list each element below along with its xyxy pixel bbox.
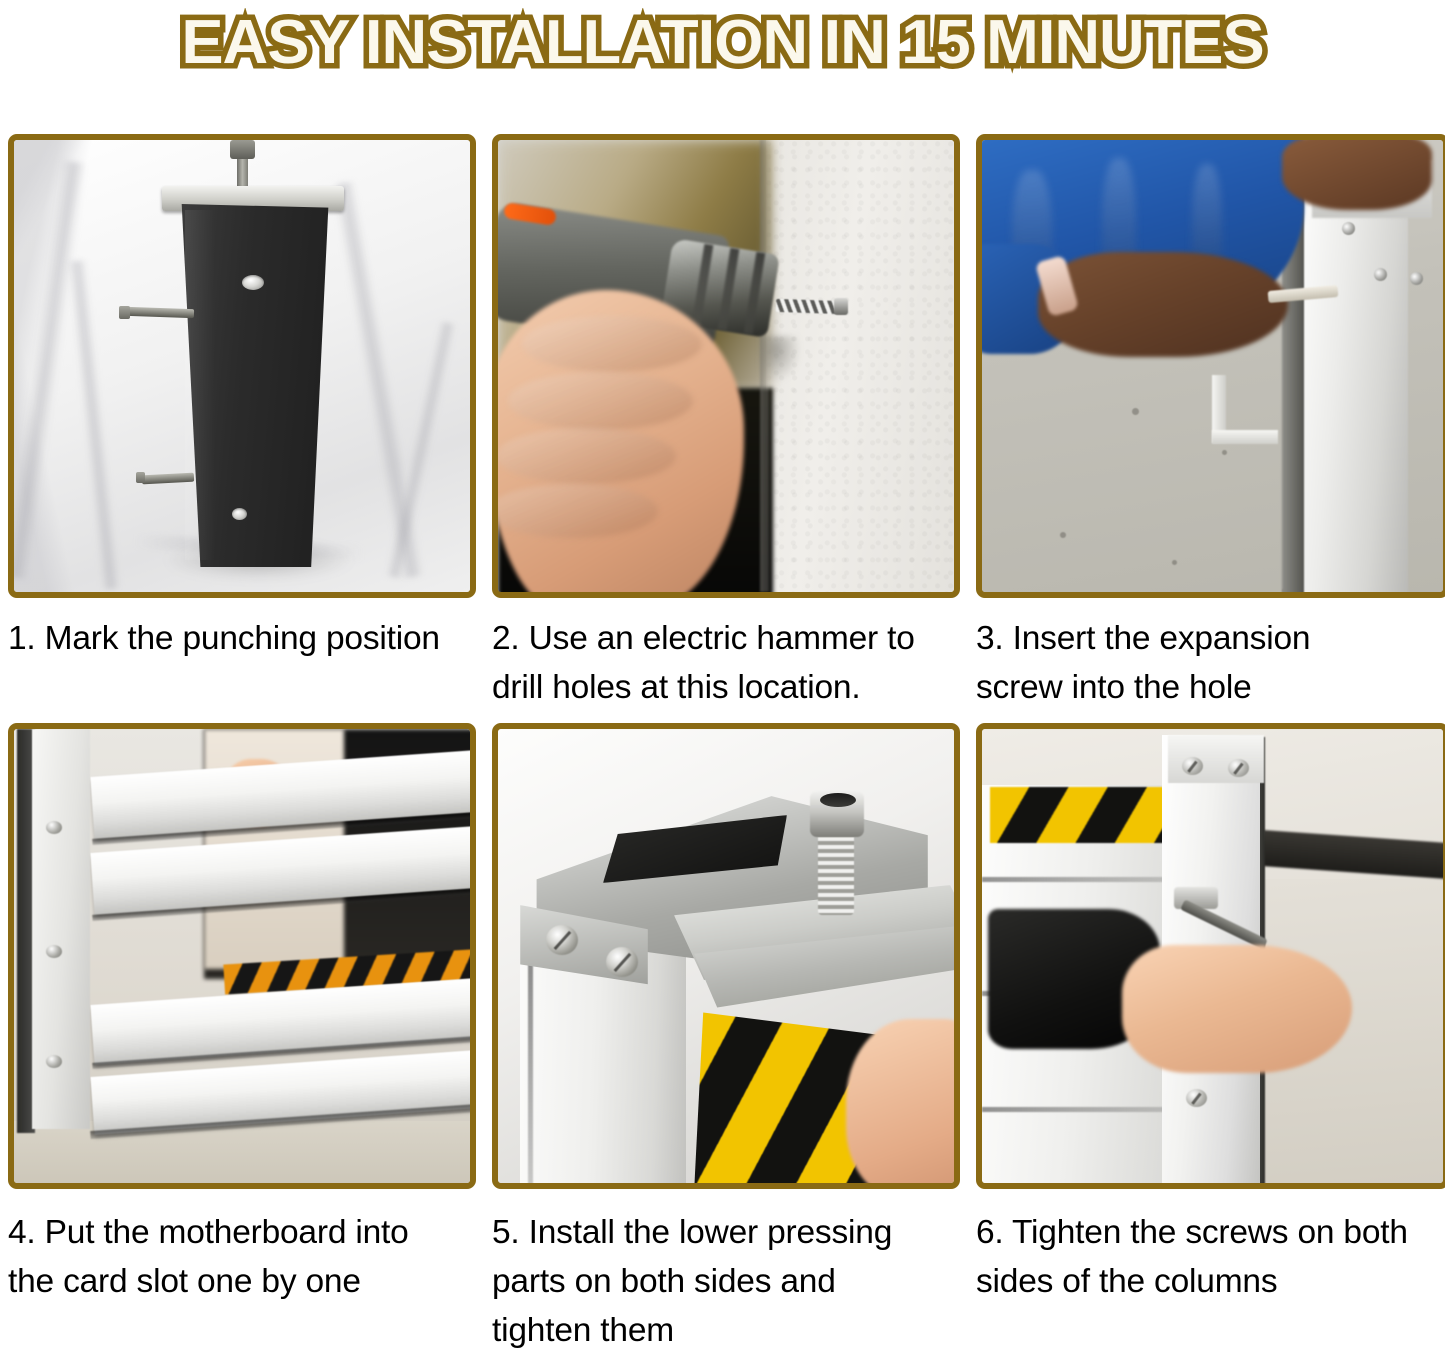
white-column bbox=[1304, 154, 1408, 592]
title-banner: EASY INSTALLATION IN 15 MINUTES bbox=[0, 0, 1445, 86]
step-photo-4 bbox=[8, 723, 476, 1189]
panel-groove bbox=[982, 1107, 1178, 1112]
step-photo-2 bbox=[492, 134, 960, 598]
drill-bit bbox=[776, 299, 842, 314]
thumb-bolt-thread bbox=[818, 829, 854, 915]
step-caption-5: 5. Install the lower pressing parts on b… bbox=[492, 1208, 960, 1352]
column-screw-bottom bbox=[1186, 1089, 1207, 1107]
operator-hand bbox=[1122, 945, 1352, 1073]
scene-lower-pressing-parts bbox=[498, 729, 954, 1183]
surface-speck bbox=[1132, 408, 1139, 415]
finger bbox=[522, 316, 702, 372]
step-card-4: 4. Put the motherboard into the card slo… bbox=[8, 723, 476, 1352]
step-caption-3: 3. Insert the expansion screw into the h… bbox=[976, 614, 1445, 712]
page-title: EASY INSTALLATION IN 15 MINUTES bbox=[181, 12, 1263, 74]
surface-speck bbox=[1060, 532, 1066, 538]
column-edge-line bbox=[528, 951, 533, 1183]
threaded-rod-upper-cap bbox=[119, 306, 130, 319]
step-card-1: 1. Mark the punching position bbox=[8, 134, 476, 712]
step-caption-1: 1. Mark the punching position bbox=[8, 614, 476, 663]
scene-insert-expansion-screw bbox=[982, 140, 1443, 592]
scene-mark-punching-position bbox=[14, 140, 470, 592]
top-bolt-head bbox=[230, 140, 255, 159]
installation-guide-page: EASY INSTALLATION IN 15 MINUTES bbox=[0, 0, 1445, 1352]
column-screw bbox=[46, 945, 62, 958]
worker-second-hand bbox=[1282, 140, 1432, 210]
finger bbox=[498, 428, 676, 484]
bracket-screw bbox=[606, 947, 638, 977]
step-caption-4: 4. Put the motherboard into the card slo… bbox=[8, 1208, 476, 1306]
step-card-2: 2. Use an electric hammer to drill holes… bbox=[492, 134, 960, 712]
threaded-rod-lower-cap bbox=[136, 472, 145, 483]
drill-bit-tip bbox=[834, 298, 848, 315]
step-caption-2: 2. Use an electric hammer to drill holes… bbox=[492, 614, 960, 712]
column-screw-top-right bbox=[1228, 759, 1249, 777]
step-photo-1 bbox=[8, 134, 476, 598]
scene-insert-boards bbox=[14, 729, 470, 1183]
step-caption-6: 6. Tighten the screws on both sides of t… bbox=[976, 1208, 1445, 1306]
step-photo-3 bbox=[976, 134, 1445, 598]
mounting-hole-lower bbox=[232, 508, 247, 520]
steps-grid: 1. Mark the punching position bbox=[8, 134, 1441, 1352]
post-sheen bbox=[185, 210, 215, 560]
panel-groove bbox=[982, 877, 1178, 882]
scene-tighten-screws bbox=[982, 729, 1443, 1183]
column-screw bbox=[46, 1055, 62, 1068]
bracket-screw bbox=[546, 925, 578, 955]
column-screw bbox=[1342, 222, 1355, 235]
surface-speck bbox=[1172, 560, 1177, 565]
step-photo-5 bbox=[492, 723, 960, 1189]
finger bbox=[508, 372, 693, 430]
step-photo-6 bbox=[976, 723, 1445, 1189]
thumb-bolt-socket bbox=[820, 793, 856, 807]
column-screw-top-left bbox=[1182, 757, 1203, 775]
step-card-3: 3. Insert the expansion screw into the h… bbox=[976, 134, 1445, 712]
allen-key-foot bbox=[1212, 430, 1278, 444]
column-screw bbox=[1374, 268, 1387, 281]
column-screw bbox=[46, 821, 62, 834]
white-column bbox=[32, 729, 90, 1129]
surface-speck bbox=[1222, 450, 1227, 455]
step-card-6: 6. Tighten the screws on both sides of t… bbox=[976, 723, 1445, 1352]
mounting-hole-upper bbox=[242, 275, 264, 290]
column-screw bbox=[1410, 272, 1423, 285]
drilling-dust bbox=[760, 336, 800, 382]
hazard-stripe-tape bbox=[990, 787, 1165, 843]
step-card-5: 5. Install the lower pressing parts on b… bbox=[492, 723, 960, 1352]
scene-drill-holes bbox=[498, 140, 954, 592]
floor bbox=[14, 1121, 470, 1183]
column-top-cap bbox=[1168, 735, 1264, 783]
